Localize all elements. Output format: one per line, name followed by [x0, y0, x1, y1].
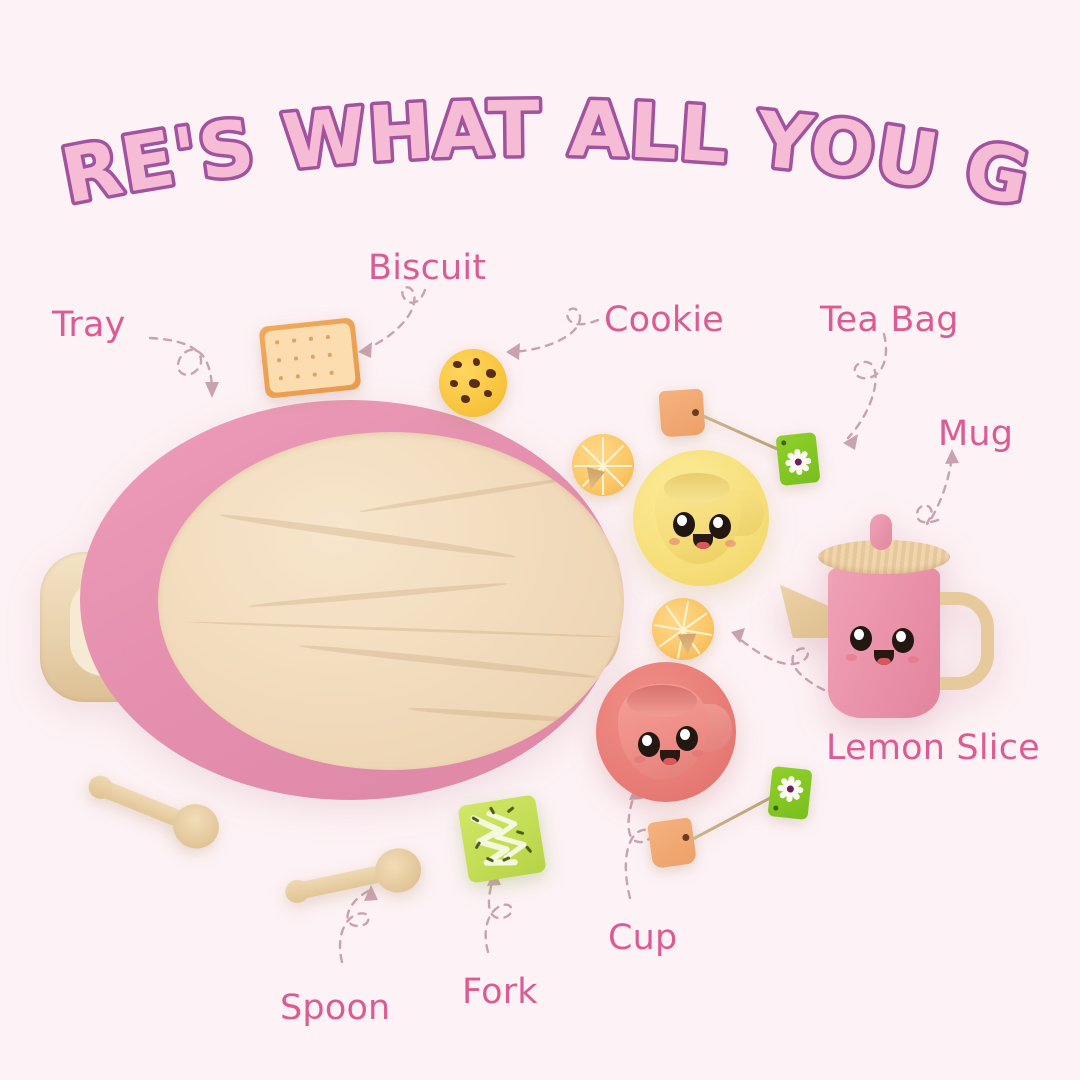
infographic-canvas: HERE'S WHAT ALL YOU GET	[0, 0, 1080, 1080]
title-arched-text: HERE'S WHAT ALL YOU GET	[0, 88, 1080, 218]
tea-bag-paper-tag-2	[647, 817, 697, 869]
label-lemon-slice: Lemon Slice	[826, 728, 1040, 768]
arrowhead-biscuit	[358, 342, 372, 358]
item-lemon-slice-1[interactable]	[572, 434, 634, 496]
arrow-fork	[486, 876, 512, 952]
page-title: HERE'S WHAT ALL YOU GET	[0, 88, 1080, 218]
label-spoon: Spoon	[280, 988, 390, 1028]
tea-bag-string-1	[701, 414, 781, 452]
label-cookie: Cookie	[604, 300, 724, 340]
spoon-bowl-2	[371, 844, 425, 897]
arrowhead-lemonslice	[731, 628, 745, 643]
lemon-flesh-1	[572, 434, 634, 496]
item-tray[interactable]	[40, 400, 620, 810]
tea-bag-paper-tag-1	[658, 389, 705, 438]
item-mug[interactable]	[780, 508, 1000, 733]
arrowhead-tray	[205, 382, 219, 398]
title-textpath: HERE'S WHAT ALL YOU GET	[0, 88, 1037, 218]
biscuit-surface	[264, 323, 356, 394]
label-fork: Fork	[462, 972, 538, 1012]
daisy-icon	[776, 775, 805, 804]
arrow-teabag	[848, 334, 886, 438]
green-cake-body	[457, 794, 546, 883]
tray-pink-rim	[80, 400, 620, 800]
label-cup: Cup	[608, 918, 677, 958]
item-biscuit[interactable]	[258, 317, 361, 399]
lemon-flesh-2	[652, 598, 714, 660]
item-spoon-2[interactable]	[288, 841, 428, 917]
label-mug: Mug	[938, 414, 1013, 454]
mug-lid-knob	[870, 514, 892, 550]
tea-bag-green-label-2	[767, 766, 812, 820]
cake-icing-zigzag	[467, 804, 538, 873]
spoon-handle-2	[292, 865, 386, 901]
arrow-cookie	[512, 309, 598, 352]
arrowhead-cookie	[506, 343, 520, 360]
item-green-cake[interactable]	[457, 794, 546, 883]
yellow-cup-kawaii-face	[671, 512, 735, 550]
arrow-biscuit	[364, 287, 425, 350]
label-tea-bag: Tea Bag	[820, 300, 959, 340]
tea-bag-string-2	[691, 795, 774, 841]
arrow-cup	[626, 790, 651, 898]
pink-cup-rim	[627, 685, 697, 717]
label-biscuit: Biscuit	[368, 248, 486, 288]
item-cookie[interactable]	[439, 349, 507, 417]
arrowhead-teabag	[843, 434, 858, 450]
cookie-dough	[439, 349, 507, 417]
title-text: HERE'S WHAT ALL YOU GET	[0, 88, 1037, 218]
arrow-tray	[150, 338, 212, 392]
mug-kawaii-face	[850, 626, 920, 666]
item-lemon-slice-2[interactable]	[652, 598, 714, 660]
tea-bag-green-label-1	[775, 432, 820, 486]
label-tray: Tray	[52, 305, 126, 345]
tray-wood-surface	[158, 432, 624, 770]
item-tea-bag-1[interactable]	[660, 386, 840, 496]
daisy-icon	[784, 448, 813, 477]
item-tea-bag-2[interactable]	[650, 768, 830, 878]
pink-cup-kawaii-face	[636, 726, 702, 764]
